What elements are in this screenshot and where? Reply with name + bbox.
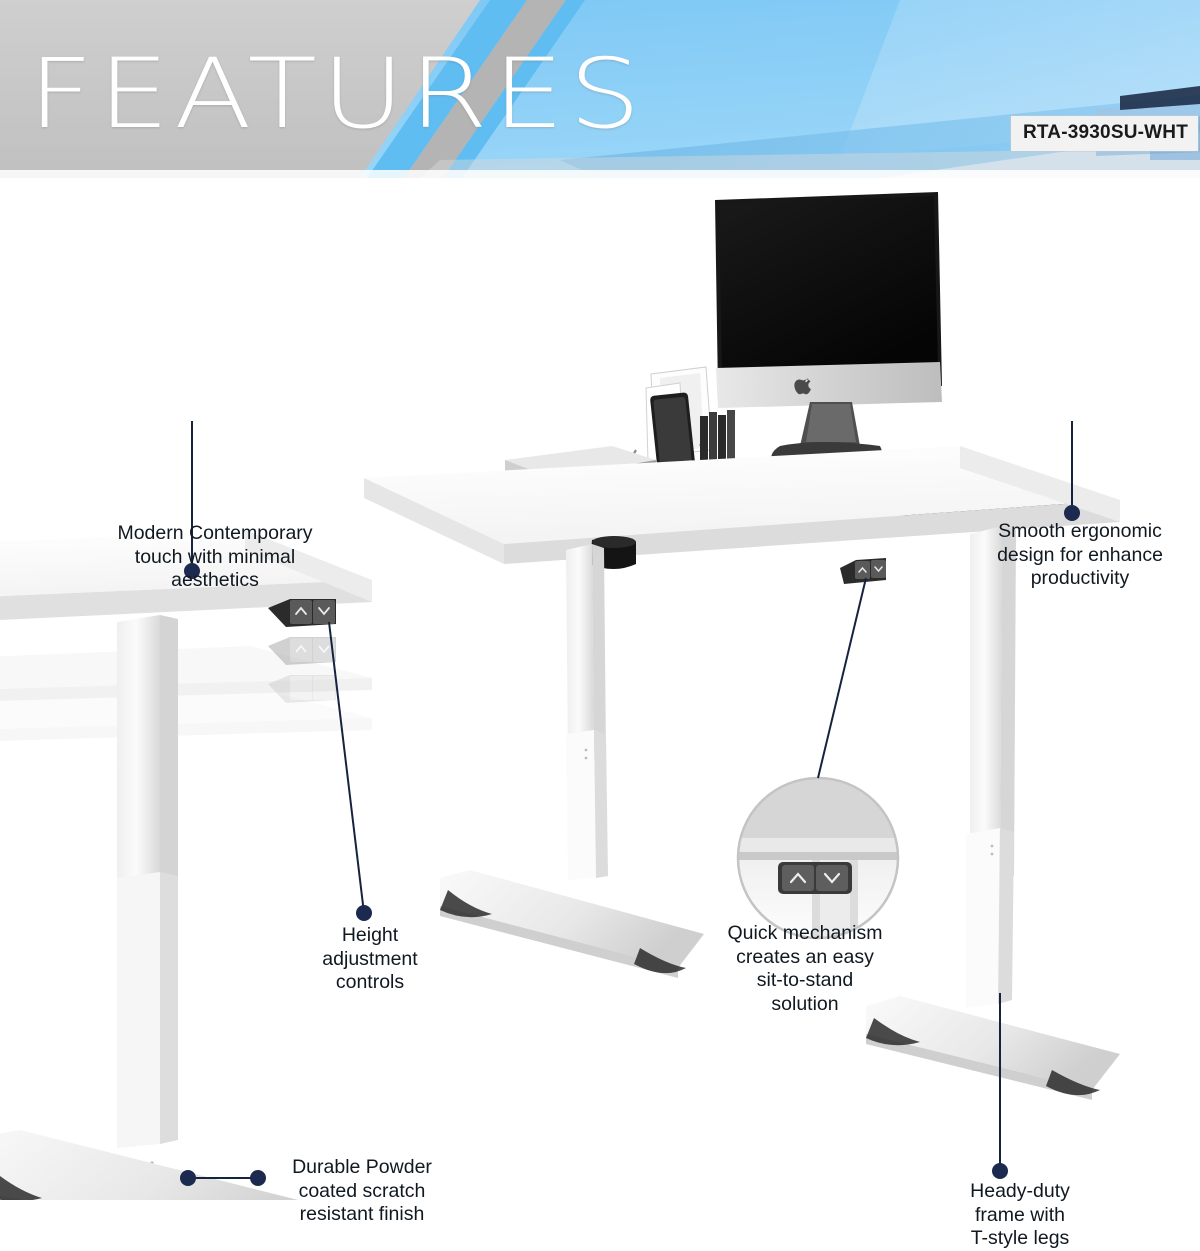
dot-height — [356, 905, 372, 921]
monitor-chin — [716, 362, 942, 408]
right-desk-t-base-left — [440, 870, 704, 978]
product-illustration: THE MONK — [0, 178, 1200, 1200]
magnified-control-panel[interactable] — [778, 862, 852, 894]
magnifier-callout — [736, 778, 902, 942]
left-desk-lowered — [0, 530, 372, 1200]
right-control-panel[interactable] — [840, 558, 886, 584]
monitor-screen — [719, 196, 938, 374]
callout-quick-mechanism: Quick mechanism creates an easy sit-to-s… — [700, 922, 910, 1016]
dot-heavy — [992, 1163, 1008, 1179]
right-desk-column-right — [966, 526, 1016, 1008]
callout-height-adjustment: Height adjustment controls — [280, 924, 460, 995]
header-banner: FEATURES RTA-3930SU-WHT — [0, 0, 1200, 178]
features-diagram-stage: THE MONK — [0, 178, 1200, 1200]
model-number-badge: RTA-3930SU-WHT — [1011, 116, 1198, 151]
callout-smooth-ergonomic: Smooth ergonomic design for enhance prod… — [965, 520, 1195, 591]
dot-smooth — [1064, 505, 1080, 521]
callout-modern-contemporary: Modern Contemporary touch with minimal a… — [70, 522, 360, 593]
page-title: FEATURES — [28, 46, 645, 142]
imac-monitor — [715, 192, 942, 475]
dot-durable-start — [180, 1170, 196, 1186]
right-desk-column-left — [566, 544, 608, 880]
callout-heavy-duty-frame: Heady-duty frame with T-style legs — [925, 1180, 1115, 1251]
left-desk-column — [117, 615, 178, 1180]
pen-holder — [700, 410, 735, 460]
callout-durable-powder-coat: Durable Powder coated scratch resistant … — [262, 1156, 462, 1227]
